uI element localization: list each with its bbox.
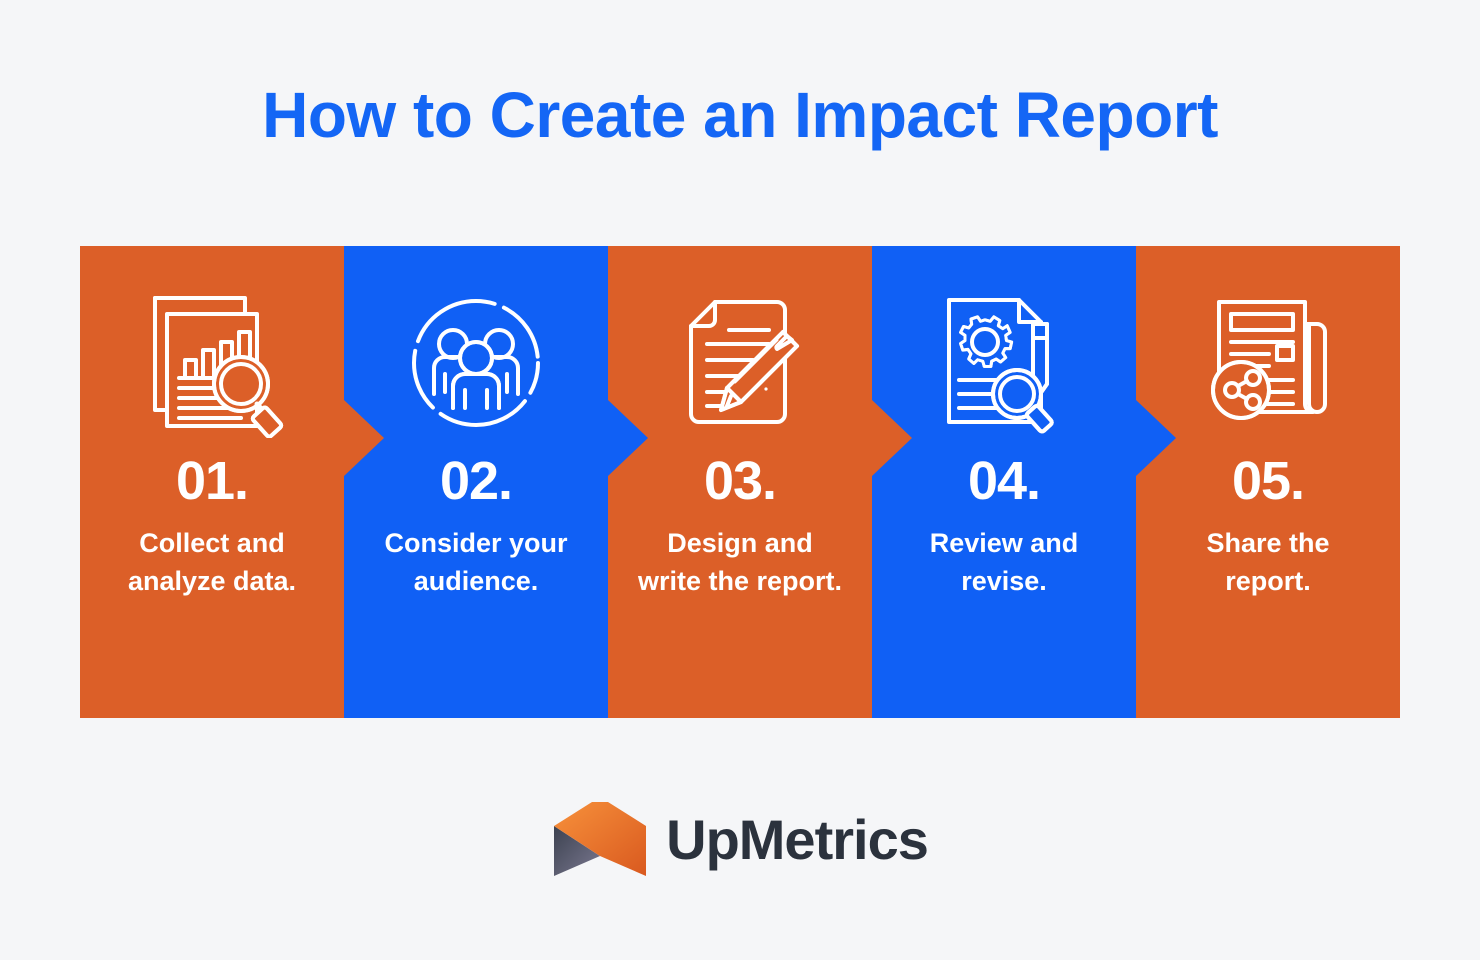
step-1-number: 01. [176, 454, 248, 508]
share-report-icon [1193, 288, 1343, 438]
step-5-number: 05. [1232, 454, 1304, 508]
write-report-icon [665, 288, 815, 438]
step-4-number: 04. [968, 454, 1040, 508]
page-title: How to Create an Impact Report [0, 80, 1480, 150]
analyze-data-icon [137, 288, 287, 438]
brand-name: UpMetrics [666, 812, 928, 868]
step-panel-3[interactable]: 03. Design and write the report. [608, 246, 872, 718]
review-revise-icon [929, 288, 1079, 438]
infographic-page: How to Create an Impact Report [0, 0, 1480, 960]
step-4-label: Review and revise. [898, 524, 1110, 601]
brand-logo[interactable]: UpMetrics [0, 800, 1480, 880]
step-1-label: Collect and analyze data. [106, 524, 318, 601]
upmetrics-chevron-logo [552, 800, 648, 880]
step-panel-2[interactable]: 02. Consider your audience. [344, 246, 608, 718]
step-2-label: Consider your audience. [370, 524, 582, 601]
audience-icon [401, 288, 551, 438]
step-panel-4[interactable]: 04. Review and revise. [872, 246, 1136, 718]
step-3-number: 03. [704, 454, 776, 508]
step-3-label: Design and write the report. [634, 524, 846, 601]
step-panel-5[interactable]: 05. Share the report. [1136, 246, 1400, 718]
step-panel-1[interactable]: 01. Collect and analyze data. [80, 246, 344, 718]
steps-band: 01. Collect and analyze data. [80, 246, 1400, 718]
step-2-number: 02. [440, 454, 512, 508]
step-5-label: Share the report. [1162, 524, 1374, 601]
